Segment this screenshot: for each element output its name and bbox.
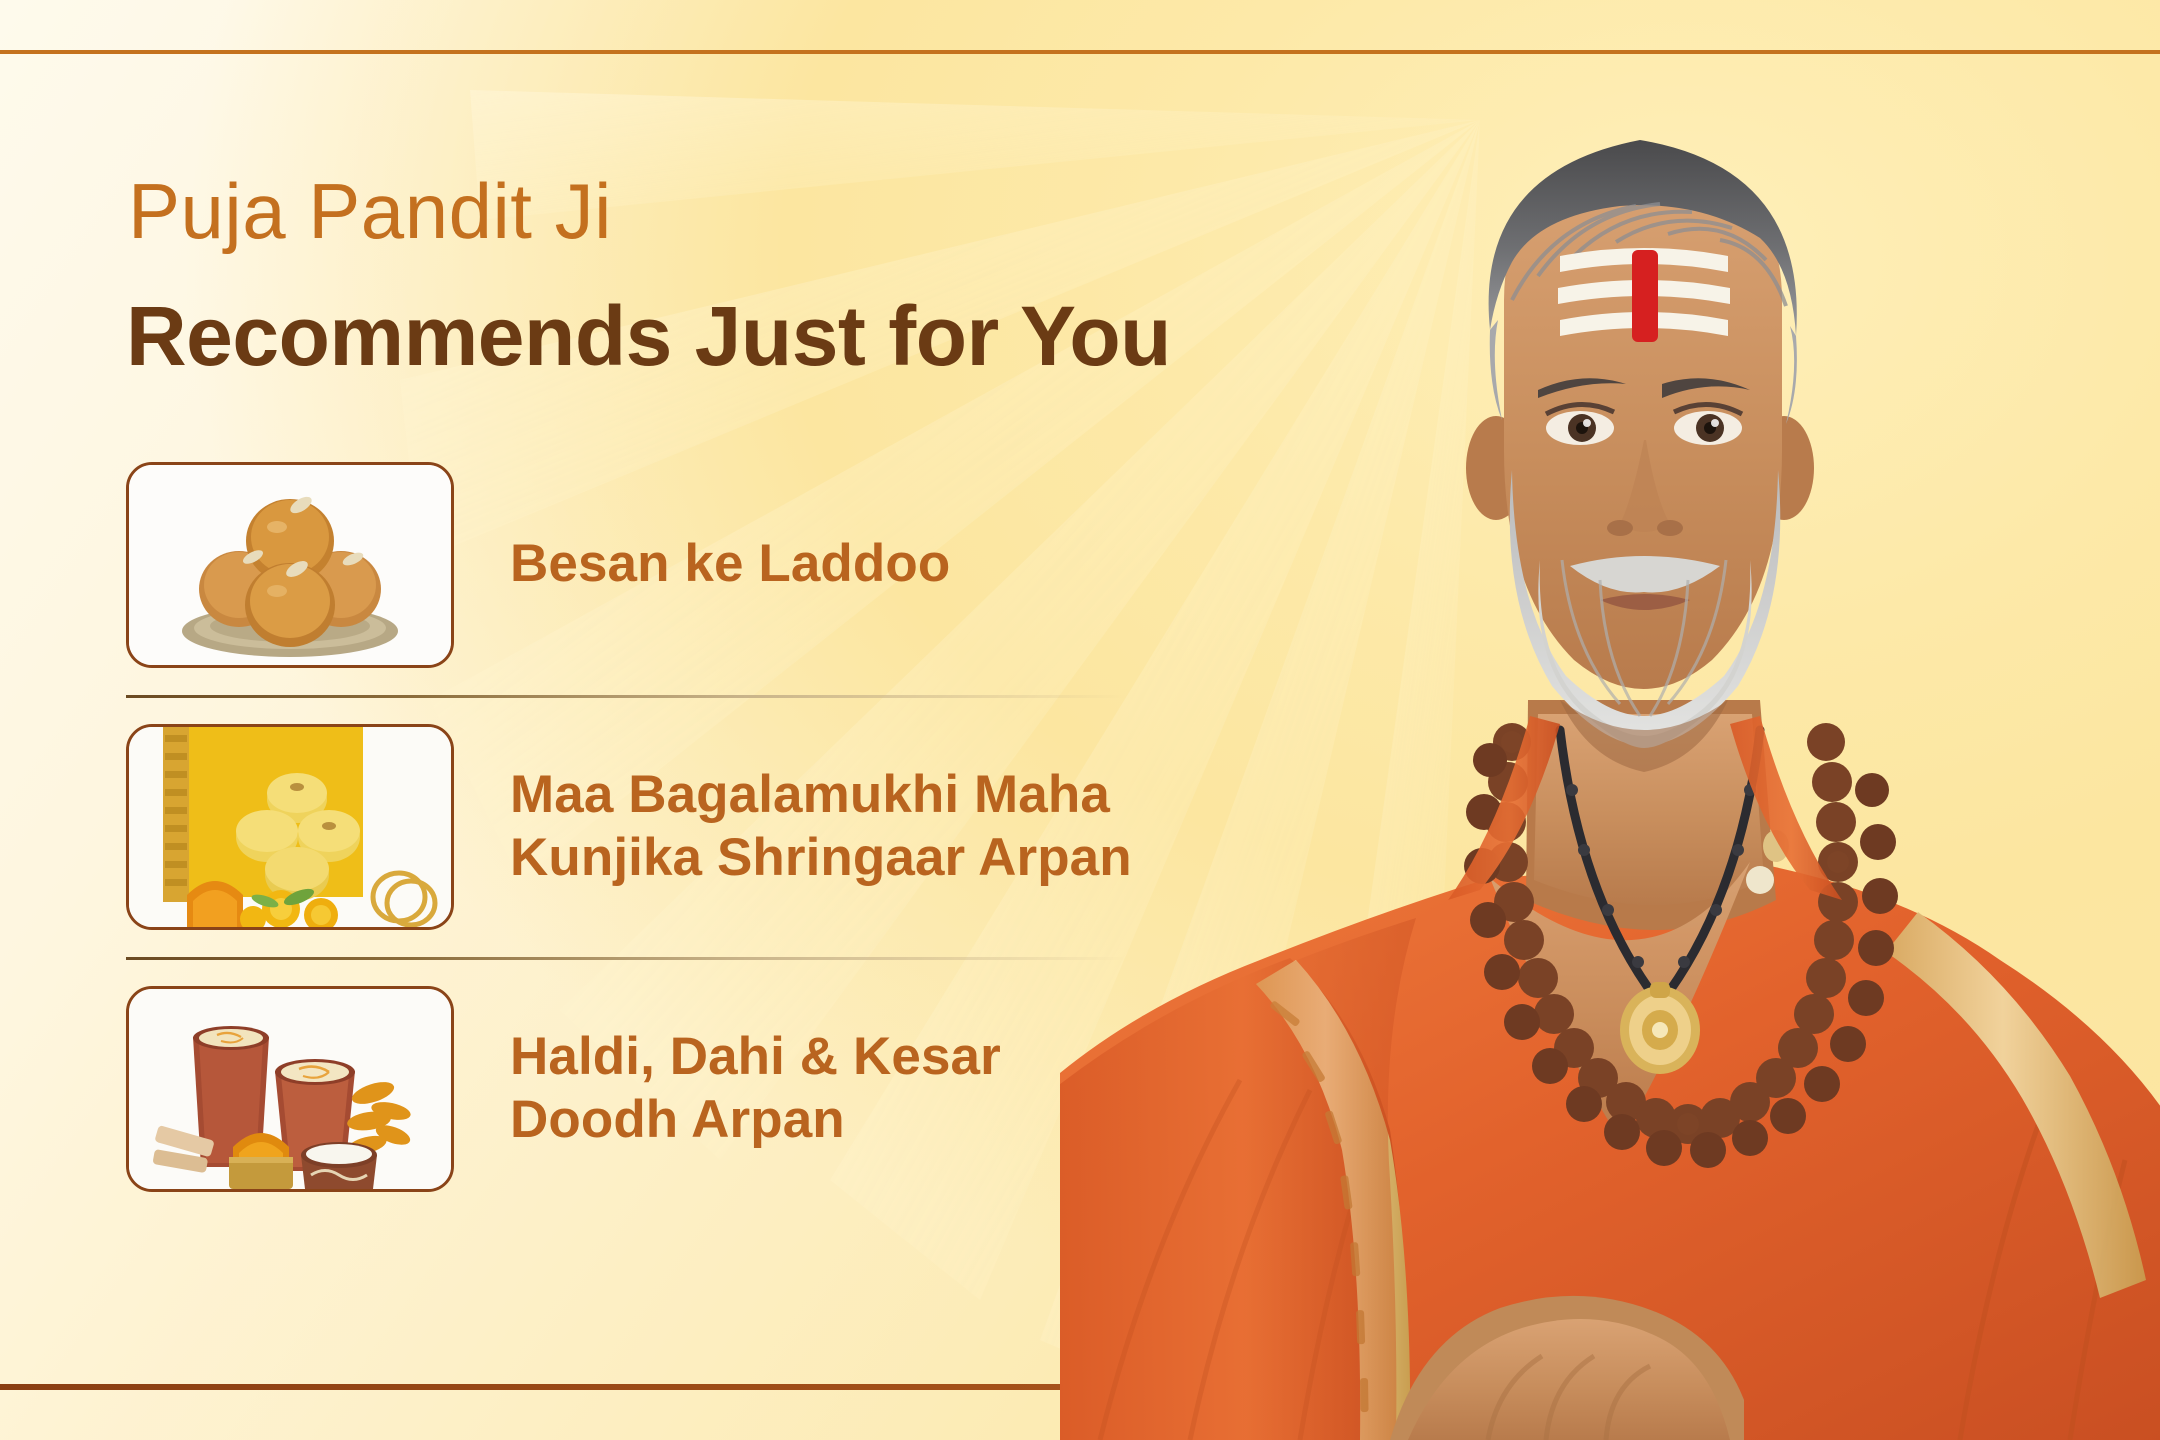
list-item-label-line2: Doodh Arpan [510, 1089, 1001, 1152]
list-divider [126, 957, 1126, 960]
list-item-label: Besan ke Laddoo [510, 533, 950, 596]
bottom-divider-rule [0, 1384, 1206, 1390]
pandit-portrait [1060, 0, 2160, 1440]
list-item[interactable]: Maa Bagalamukhi Maha Kunjika Shringaar A… [126, 724, 1136, 929]
content-column: Puja Pandit Ji Recommends Just for You [0, 54, 1210, 1384]
list-item-label: Haldi, Dahi & Kesar Doodh Arpan [510, 1026, 1001, 1151]
bagalamukhi-shringaar-thumbnail[interactable] [126, 724, 454, 930]
list-item-label-line2: Kunjika Shringaar Arpan [510, 827, 1132, 890]
eyebrow-text: Puja Pandit Ji [128, 172, 612, 250]
haldi-dahi-kesar-doodh-thumbnail[interactable] [126, 986, 454, 1192]
list-item[interactable]: Besan ke Laddoo [126, 462, 1136, 667]
list-item[interactable]: Haldi, Dahi & Kesar Doodh Arpan [126, 986, 1136, 1191]
page-title: Recommends Just for You [126, 294, 1171, 378]
promo-banner: Puja Pandit Ji Recommends Just for You [0, 0, 2160, 1440]
besan-ke-laddoo-thumbnail[interactable] [126, 462, 454, 668]
list-item-label: Maa Bagalamukhi Maha Kunjika Shringaar A… [510, 764, 1132, 889]
recommendation-list: Besan ke Laddoo [126, 462, 1136, 1191]
list-divider [126, 695, 1126, 698]
list-item-label-line1: Haldi, Dahi & Kesar [510, 1026, 1001, 1089]
list-item-label-line1: Maa Bagalamukhi Maha [510, 764, 1132, 827]
